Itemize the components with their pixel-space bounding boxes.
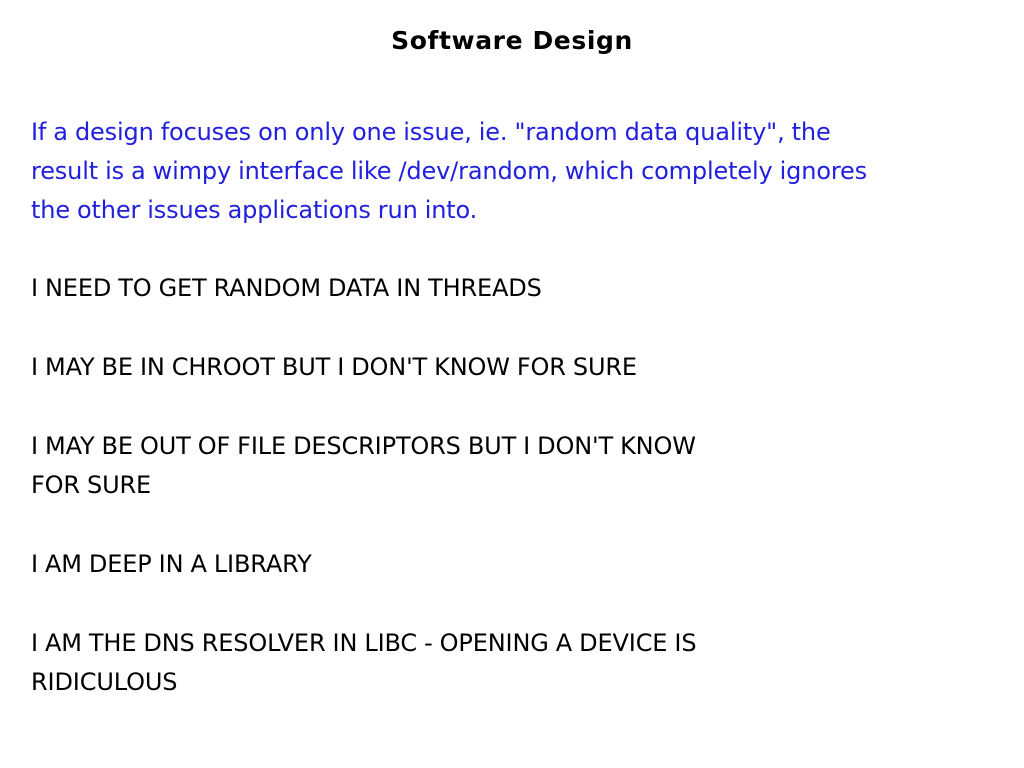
presentation-slide: Software Design If a design focuses on o…: [0, 0, 1024, 768]
intro-paragraph-line-2: result is a wimpy interface like /dev/ra…: [31, 152, 1017, 191]
requirement-dns-resolver: I AM THE DNS RESOLVER IN LIBC - OPENING …: [31, 624, 1017, 702]
intro-paragraph-line-1: If a design focuses on only one issue, i…: [31, 113, 1017, 152]
intro-paragraph-line-3: the other issues applications run into.: [31, 191, 1017, 230]
slide-body: If a design focuses on only one issue, i…: [31, 113, 1017, 702]
requirement-library: I AM DEEP IN A LIBRARY: [31, 545, 1017, 584]
requirement-dns-resolver-line-2: RIDICULOUS: [31, 663, 1017, 702]
requirement-dns-resolver-line-1: I AM THE DNS RESOLVER IN LIBC - OPENING …: [31, 624, 1017, 663]
slide-title: Software Design: [0, 24, 1024, 58]
requirement-file-descriptors-line-2: FOR SURE: [31, 466, 1017, 505]
requirement-file-descriptors: I MAY BE OUT OF FILE DESCRIPTORS BUT I D…: [31, 427, 1017, 505]
requirement-library-line-1: I AM DEEP IN A LIBRARY: [31, 545, 1017, 584]
requirement-file-descriptors-line-1: I MAY BE OUT OF FILE DESCRIPTORS BUT I D…: [31, 427, 1017, 466]
intro-paragraph: If a design focuses on only one issue, i…: [31, 113, 1017, 230]
requirement-chroot-line-1: I MAY BE IN CHROOT BUT I DON'T KNOW FOR …: [31, 348, 1017, 387]
requirement-threads: I NEED TO GET RANDOM DATA IN THREADS: [31, 269, 1017, 308]
requirement-threads-line-1: I NEED TO GET RANDOM DATA IN THREADS: [31, 269, 1017, 308]
requirement-chroot: I MAY BE IN CHROOT BUT I DON'T KNOW FOR …: [31, 348, 1017, 387]
